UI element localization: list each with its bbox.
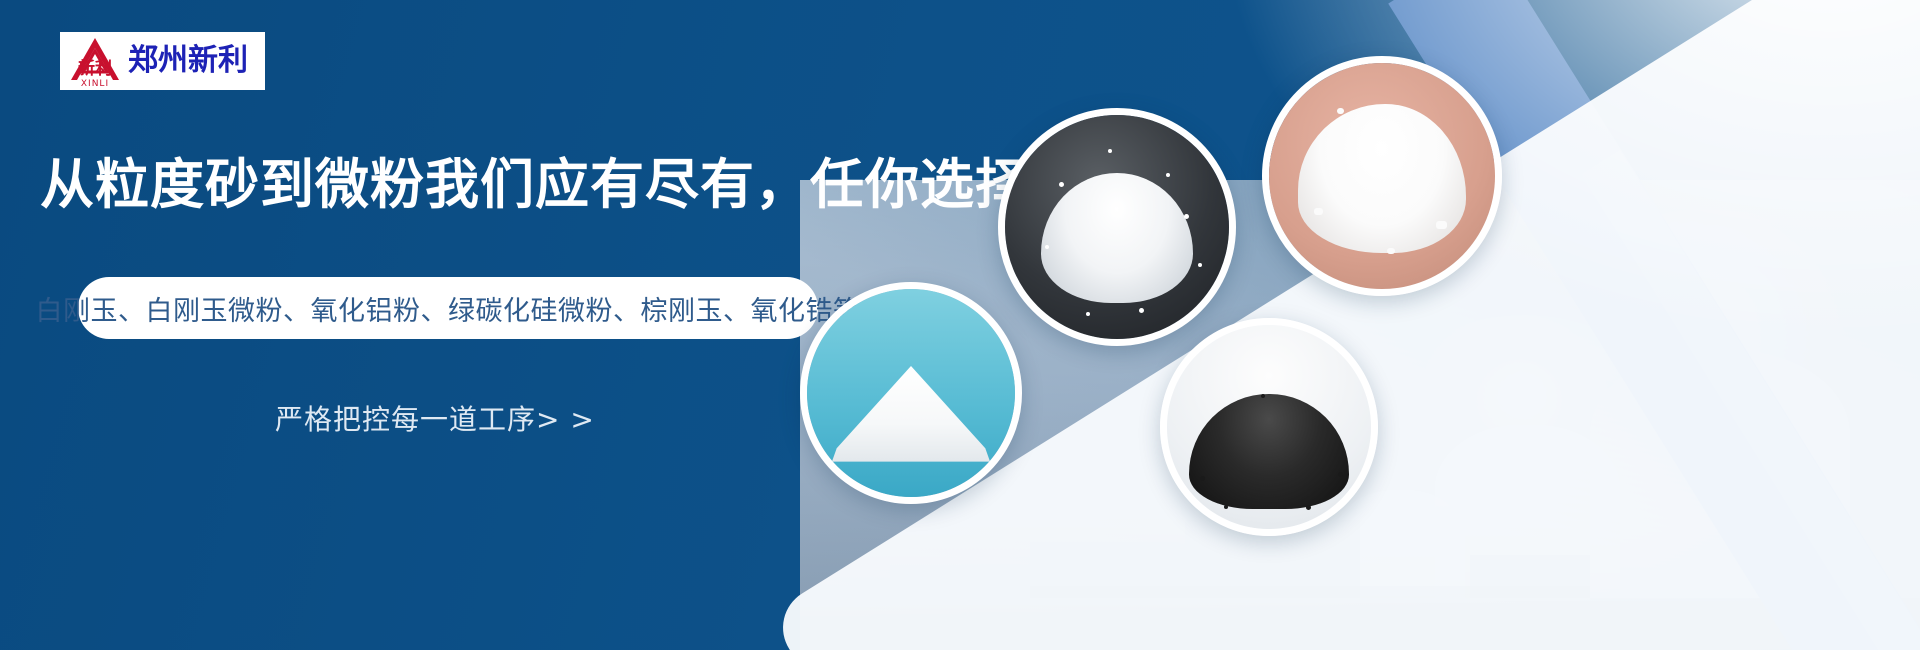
cta-link[interactable]: 严格把控每一道工序> > — [275, 398, 595, 438]
logo-wordmark: 郑州新利 — [128, 46, 248, 76]
company-logo[interactable]: 新利 XINLI 郑州新利 — [60, 32, 265, 90]
material-pile — [832, 366, 990, 462]
product-photo-white-powder-cone — [800, 282, 1022, 504]
product-photo-white-fused-alumina-sand — [998, 108, 1236, 346]
photo-tray — [1269, 63, 1495, 289]
product-photo-black-silicon-carbide-grit — [1160, 318, 1378, 536]
product-list-pill: 白刚玉、白刚玉微粉、氧化铝粉、绿碳化硅微粉、棕刚玉、氧化锆等 — [78, 277, 818, 339]
photo-tray — [1167, 325, 1371, 529]
xinli-triangle-mark-icon: 新利 XINLI — [66, 34, 124, 88]
svg-text:XINLI: XINLI — [81, 79, 109, 88]
material-pile — [1041, 173, 1193, 303]
product-list-text: 白刚玉、白刚玉微粉、氧化铝粉、绿碳化硅微粉、棕刚玉、氧化锆等 — [36, 289, 861, 328]
page-title: 从粒度砂到微粉我们应有尽有，任你选择 — [40, 140, 1030, 219]
svg-text:新利: 新利 — [78, 58, 112, 79]
photo-tray — [1005, 115, 1229, 339]
material-pile — [1298, 104, 1465, 253]
photo-tray — [807, 289, 1015, 497]
material-pile — [1189, 394, 1348, 508]
product-photo-white-alumina-powder — [1262, 56, 1502, 296]
hero-banner: 新利 XINLI 郑州新利 从粒度砂到微粉我们应有尽有，任你选择 白刚玉、白刚玉… — [0, 0, 1920, 650]
